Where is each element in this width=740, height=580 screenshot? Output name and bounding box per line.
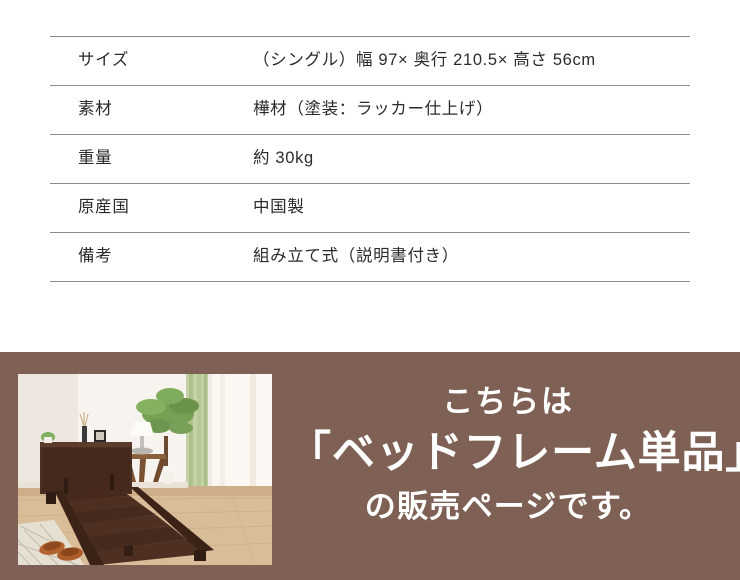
- spec-value-origin: 中国製: [253, 184, 690, 233]
- spec-label-origin: 原産国: [50, 184, 253, 233]
- bed-frame-room-photo: [18, 374, 272, 565]
- spec-table: サイズ （シングル）幅 97× 奥行 210.5× 高さ 56cm 素材 樺材（…: [50, 36, 690, 282]
- headboard: [40, 442, 132, 494]
- spec-value-remarks: 組み立て式（説明書付き）: [253, 233, 690, 282]
- banner-line-1: こちらは: [288, 382, 728, 422]
- spec-table-body: サイズ （シングル）幅 97× 奥行 210.5× 高さ 56cm 素材 樺材（…: [50, 37, 690, 282]
- banner-line-2: 「ベッドフレーム単品」: [288, 426, 728, 481]
- table-row: サイズ （シングル）幅 97× 奥行 210.5× 高さ 56cm: [50, 37, 690, 86]
- spec-label-remarks: 備考: [50, 233, 253, 282]
- spec-value-material: 樺材（塗装：ラッカー仕上げ）: [253, 86, 690, 135]
- banner-line-3: の販売ページです。: [288, 487, 728, 527]
- spec-value-weight: 約 30kg: [253, 135, 690, 184]
- product-notice-banner: こちらは 「ベッドフレーム単品」 の販売ページです。: [0, 352, 740, 580]
- spec-label-material: 素材: [50, 86, 253, 135]
- table-row: 備考 組み立て式（説明書付き）: [50, 233, 690, 282]
- spec-label-weight: 重量: [50, 135, 253, 184]
- table-row: 原産国 中国製: [50, 184, 690, 233]
- banner-copy: こちらは 「ベッドフレーム単品」 の販売ページです。: [288, 382, 728, 526]
- banner-inner: こちらは 「ベッドフレーム単品」 の販売ページです。: [0, 352, 740, 580]
- spec-value-size: （シングル）幅 97× 奥行 210.5× 高さ 56cm: [253, 37, 690, 86]
- room-photo-illustration: [18, 374, 272, 565]
- table-row: 素材 樺材（塗装：ラッカー仕上げ）: [50, 86, 690, 135]
- spec-table-container: サイズ （シングル）幅 97× 奥行 210.5× 高さ 56cm 素材 樺材（…: [50, 36, 690, 282]
- table-row: 重量 約 30kg: [50, 135, 690, 184]
- spec-label-size: サイズ: [50, 37, 253, 86]
